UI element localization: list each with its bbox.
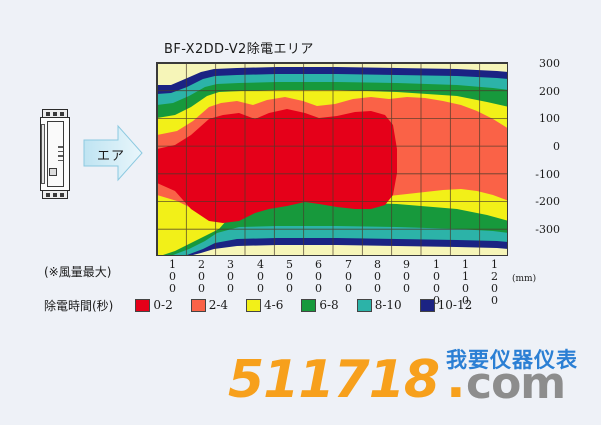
- legend: 除電時間(秒) 0-2 2-4 4-6 6-8 8-10: [44, 296, 490, 314]
- legend-item-10-12: 10-12: [420, 298, 473, 312]
- y-tick-6: -300: [524, 223, 560, 236]
- screenshot-root: BF-X2DD-V2除電エリア エア: [0, 0, 601, 425]
- page-title: BF-X2DD-V2除電エリア: [164, 38, 314, 57]
- device-led-strip: [58, 146, 63, 164]
- x-tick-4: 500: [281, 258, 295, 294]
- watermark-dot: .: [446, 350, 466, 410]
- legend-items: 0-2 2-4 4-6 6-8 8-10 10-12: [135, 298, 490, 312]
- legend-swatch-8-10: [357, 299, 372, 312]
- legend-swatch-6-8: [301, 299, 316, 312]
- x-tick-3: 400: [252, 258, 266, 294]
- x-tick-1: 200: [193, 258, 207, 294]
- device-side-rail: [41, 124, 45, 184]
- legend-item-6-8: 6-8: [301, 298, 338, 312]
- legend-label-6-8: 6-8: [319, 298, 338, 312]
- air-flow-label: エア: [90, 145, 132, 164]
- y-tick-4: -100: [524, 168, 560, 181]
- watermark-tld: com: [466, 358, 565, 409]
- contour-plot-svg: [157, 63, 508, 256]
- ionizer-device-illustration: [36, 108, 74, 200]
- legend-swatch-2-4: [191, 299, 206, 312]
- watermark: 511718 我要仪器仪表 . com: [228, 344, 598, 410]
- watermark-number: 511718: [228, 350, 439, 410]
- x-tick-8: 900: [398, 258, 412, 294]
- y-tick-3: 0: [524, 140, 560, 153]
- legend-swatch-10-12: [420, 299, 435, 312]
- legend-label-0-2: 0-2: [153, 298, 172, 312]
- legend-label-2-4: 2-4: [209, 298, 228, 312]
- legend-item-8-10: 8-10: [357, 298, 402, 312]
- x-tick-0: 100: [164, 258, 178, 294]
- y-tick-1: 200: [524, 85, 560, 98]
- device-bottom-cap: [42, 190, 68, 199]
- x-tick-6: 700: [340, 258, 354, 294]
- legend-label-10-12: 10-12: [438, 298, 473, 312]
- legend-title: 除電時間(秒): [44, 297, 113, 314]
- x-tick-5: 600: [310, 258, 324, 294]
- y-tick-2: 100: [524, 112, 560, 125]
- legend-item-4-6: 4-6: [246, 298, 283, 312]
- x-tick-2: 300: [222, 258, 236, 294]
- legend-item-0-2: 0-2: [135, 298, 172, 312]
- contour-plot: [156, 62, 508, 256]
- legend-swatch-4-6: [246, 299, 261, 312]
- x-tick-7: 800: [369, 258, 383, 294]
- legend-item-2-4: 2-4: [191, 298, 228, 312]
- legend-label-8-10: 8-10: [375, 298, 402, 312]
- max-airflow-note: (※風量最大): [44, 263, 111, 280]
- legend-label-4-6: 4-6: [264, 298, 283, 312]
- y-tick-5: -200: [524, 195, 560, 208]
- x-axis-unit: (mm): [512, 274, 536, 284]
- y-tick-0: 300: [524, 57, 560, 70]
- device-connector: [49, 168, 57, 176]
- legend-swatch-0-2: [135, 299, 150, 312]
